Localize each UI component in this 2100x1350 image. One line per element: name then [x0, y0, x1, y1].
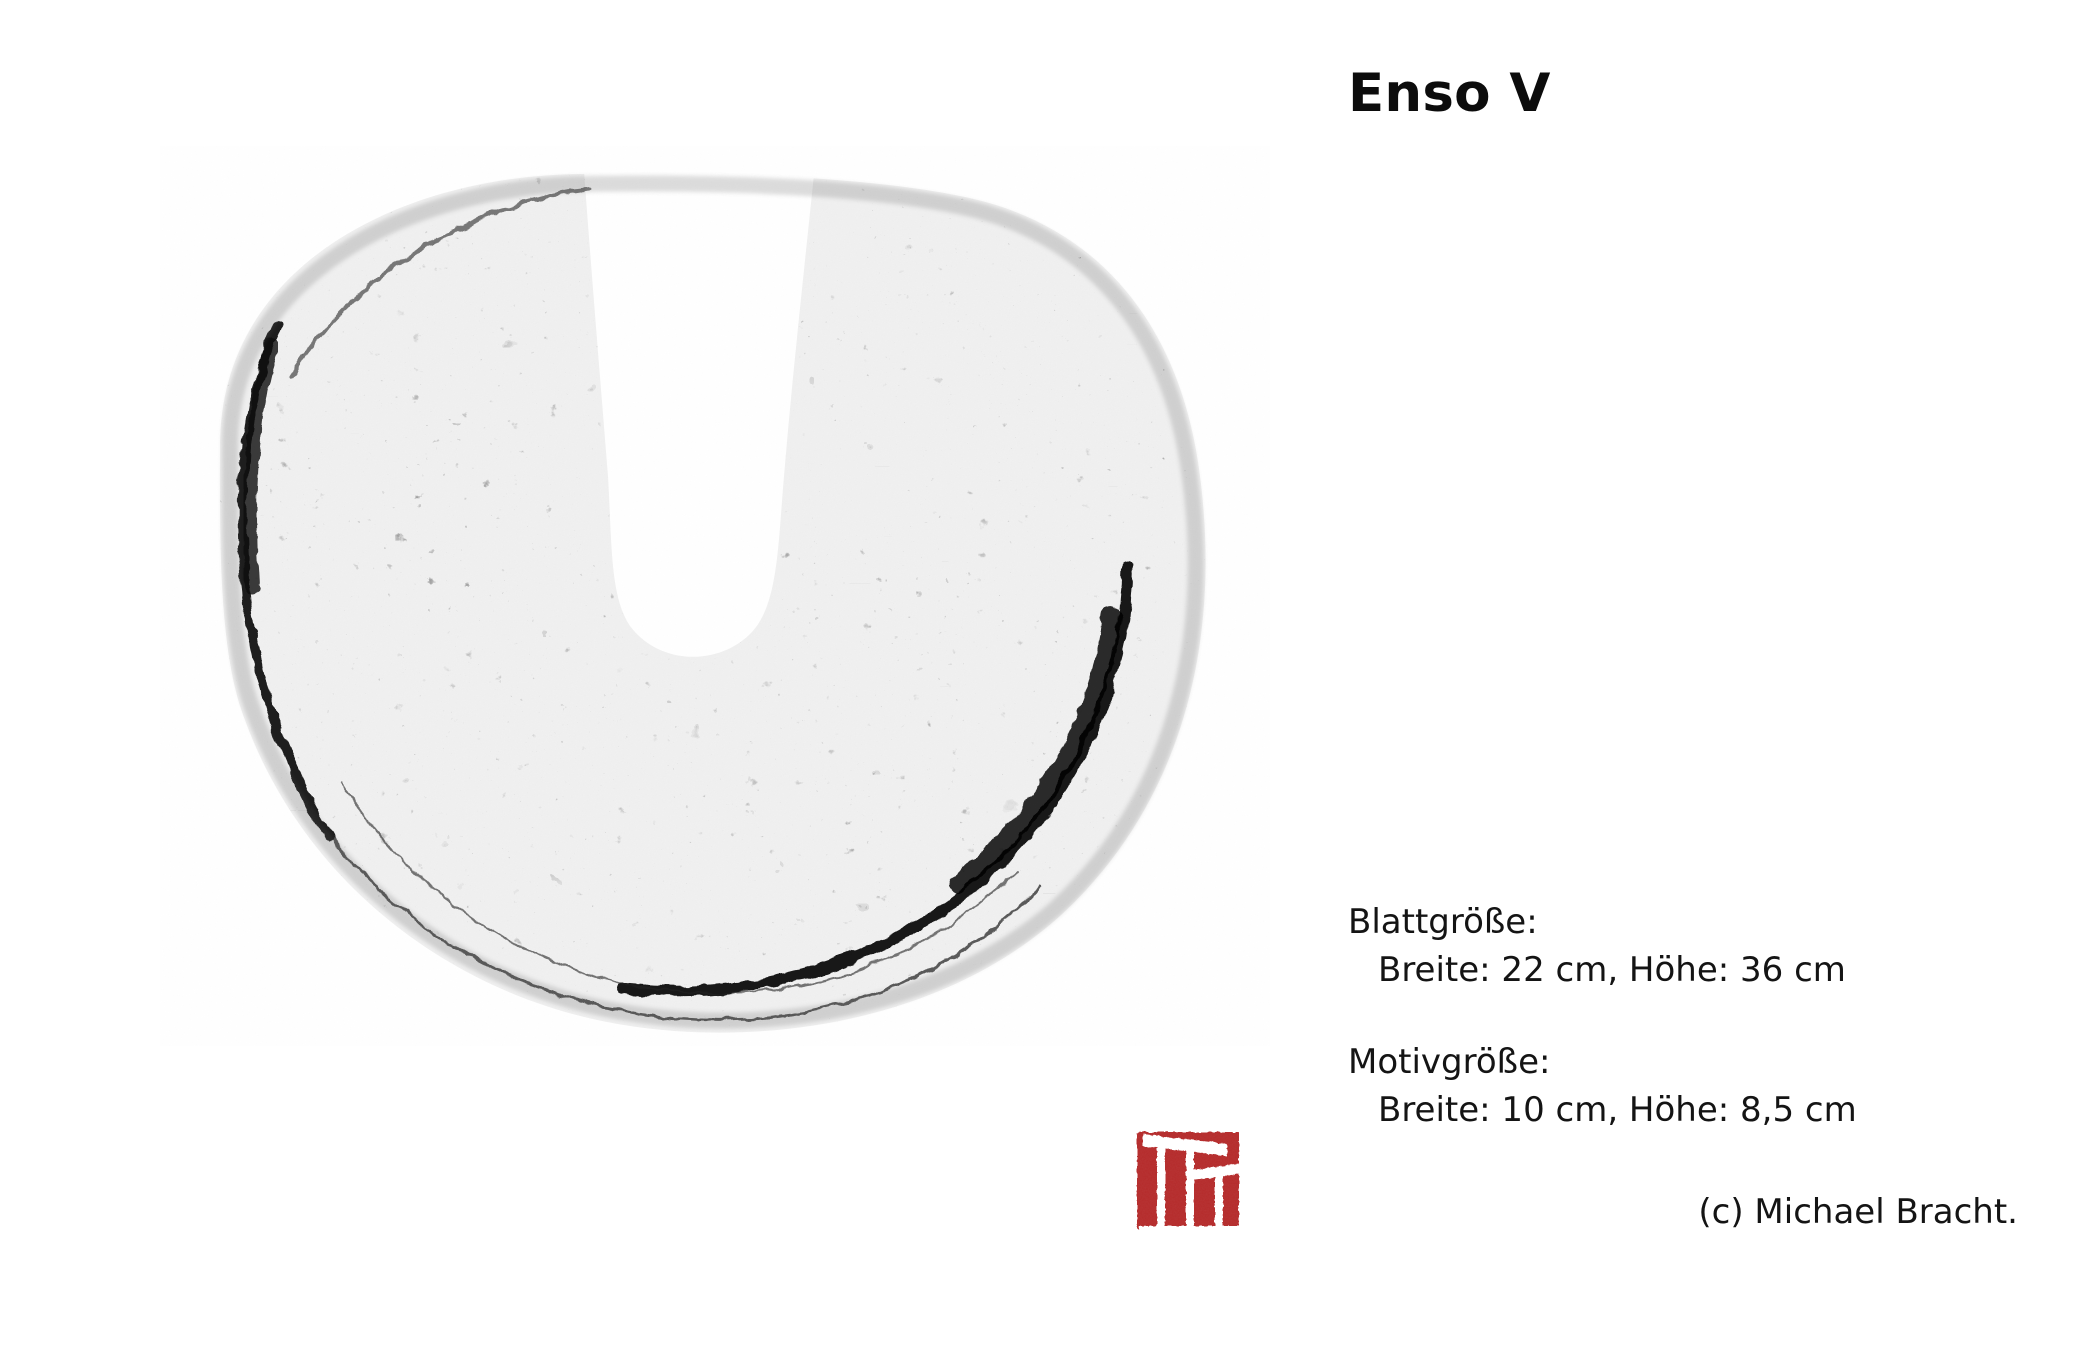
motif-size-value: Breite: 10 cm, Höhe: 8,5 cm [1348, 1086, 1857, 1134]
artwork-title: Enso V [1348, 63, 1551, 124]
artist-seal-stamp [1131, 1126, 1249, 1242]
artwork-panel [0, 0, 1290, 1350]
seal-ink-mottle [1137, 1132, 1241, 1230]
ink-cluster-right-mid-core [814, 388, 906, 504]
sheet-size-label: Blattgröße: [1348, 898, 1846, 946]
motif-size-label: Motivgröße: [1348, 1038, 1857, 1086]
sheet-size-block: Blattgröße: Breite: 22 cm, Höhe: 36 cm [1348, 898, 1846, 994]
motif-size-block: Motivgröße: Breite: 10 cm, Höhe: 8,5 cm [1348, 1038, 1857, 1134]
artwork-catalog-page: Enso V Blattgröße: Breite: 22 cm, Höhe: … [0, 0, 2100, 1350]
ink-cluster-right-shoulder [945, 266, 1135, 526]
ink-cluster-bottom [400, 666, 860, 906]
artist-seal-icon [1131, 1126, 1249, 1242]
copyright-notice: (c) Michael Bracht. [1290, 1192, 2018, 1232]
sheet-size-value: Breite: 22 cm, Höhe: 36 cm [1348, 946, 1846, 994]
artwork-info-panel: Enso V Blattgröße: Breite: 22 cm, Höhe: … [1290, 0, 2100, 1350]
enso-artwork-image [160, 146, 1270, 1046]
enso-ink-drawing [160, 146, 1270, 1046]
